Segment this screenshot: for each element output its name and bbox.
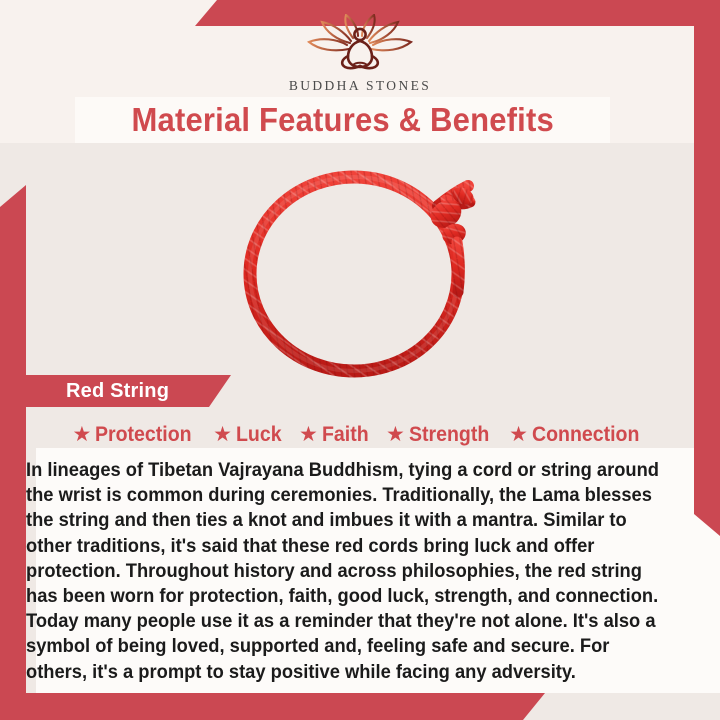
star-icon: ★ <box>299 424 318 445</box>
benefit-item-protection: ★ Protection <box>68 423 205 447</box>
page-title-band: Material Features & Benefits <box>75 97 610 143</box>
benefit-label: Strength <box>409 423 489 447</box>
product-name-banner: Red String <box>26 375 231 407</box>
lotus-meditation-icon <box>301 14 419 76</box>
infographic-card: BUDDHA STONES Material Features & Benefi… <box>0 0 720 720</box>
brand-logo: BUDDHA STONES <box>0 14 720 94</box>
description-text: In lineages of Tibetan Vajrayana Buddhis… <box>26 458 664 685</box>
red-braided-cord-bracelet-icon <box>232 156 488 384</box>
product-image <box>232 156 488 384</box>
star-icon: ★ <box>386 424 405 445</box>
brand-name: BUDDHA STONES <box>289 78 431 94</box>
benefit-item-luck: ★ Luck <box>208 423 290 447</box>
benefit-label: Faith <box>322 423 369 447</box>
benefit-label: Luck <box>236 423 282 447</box>
product-name-label: Red String <box>66 380 169 403</box>
benefit-label: Protection <box>95 423 192 447</box>
benefit-item-connection: ★ Connection <box>504 423 652 447</box>
decorative-bar-right <box>694 26 720 536</box>
decorative-bar-bottom-left <box>0 693 545 720</box>
benefits-row: ★ Protection ★ Luck ★ Faith ★ Strength ★… <box>26 419 694 451</box>
benefit-item-faith: ★ Faith <box>294 423 377 447</box>
page-title: Material Features & Benefits <box>131 101 553 139</box>
star-icon: ★ <box>213 424 232 445</box>
star-icon: ★ <box>509 424 528 445</box>
decorative-bar-left <box>0 185 26 693</box>
benefit-item-strength: ★ Strength <box>381 423 500 447</box>
benefit-label: Connection <box>532 423 639 447</box>
star-icon: ★ <box>73 424 92 445</box>
